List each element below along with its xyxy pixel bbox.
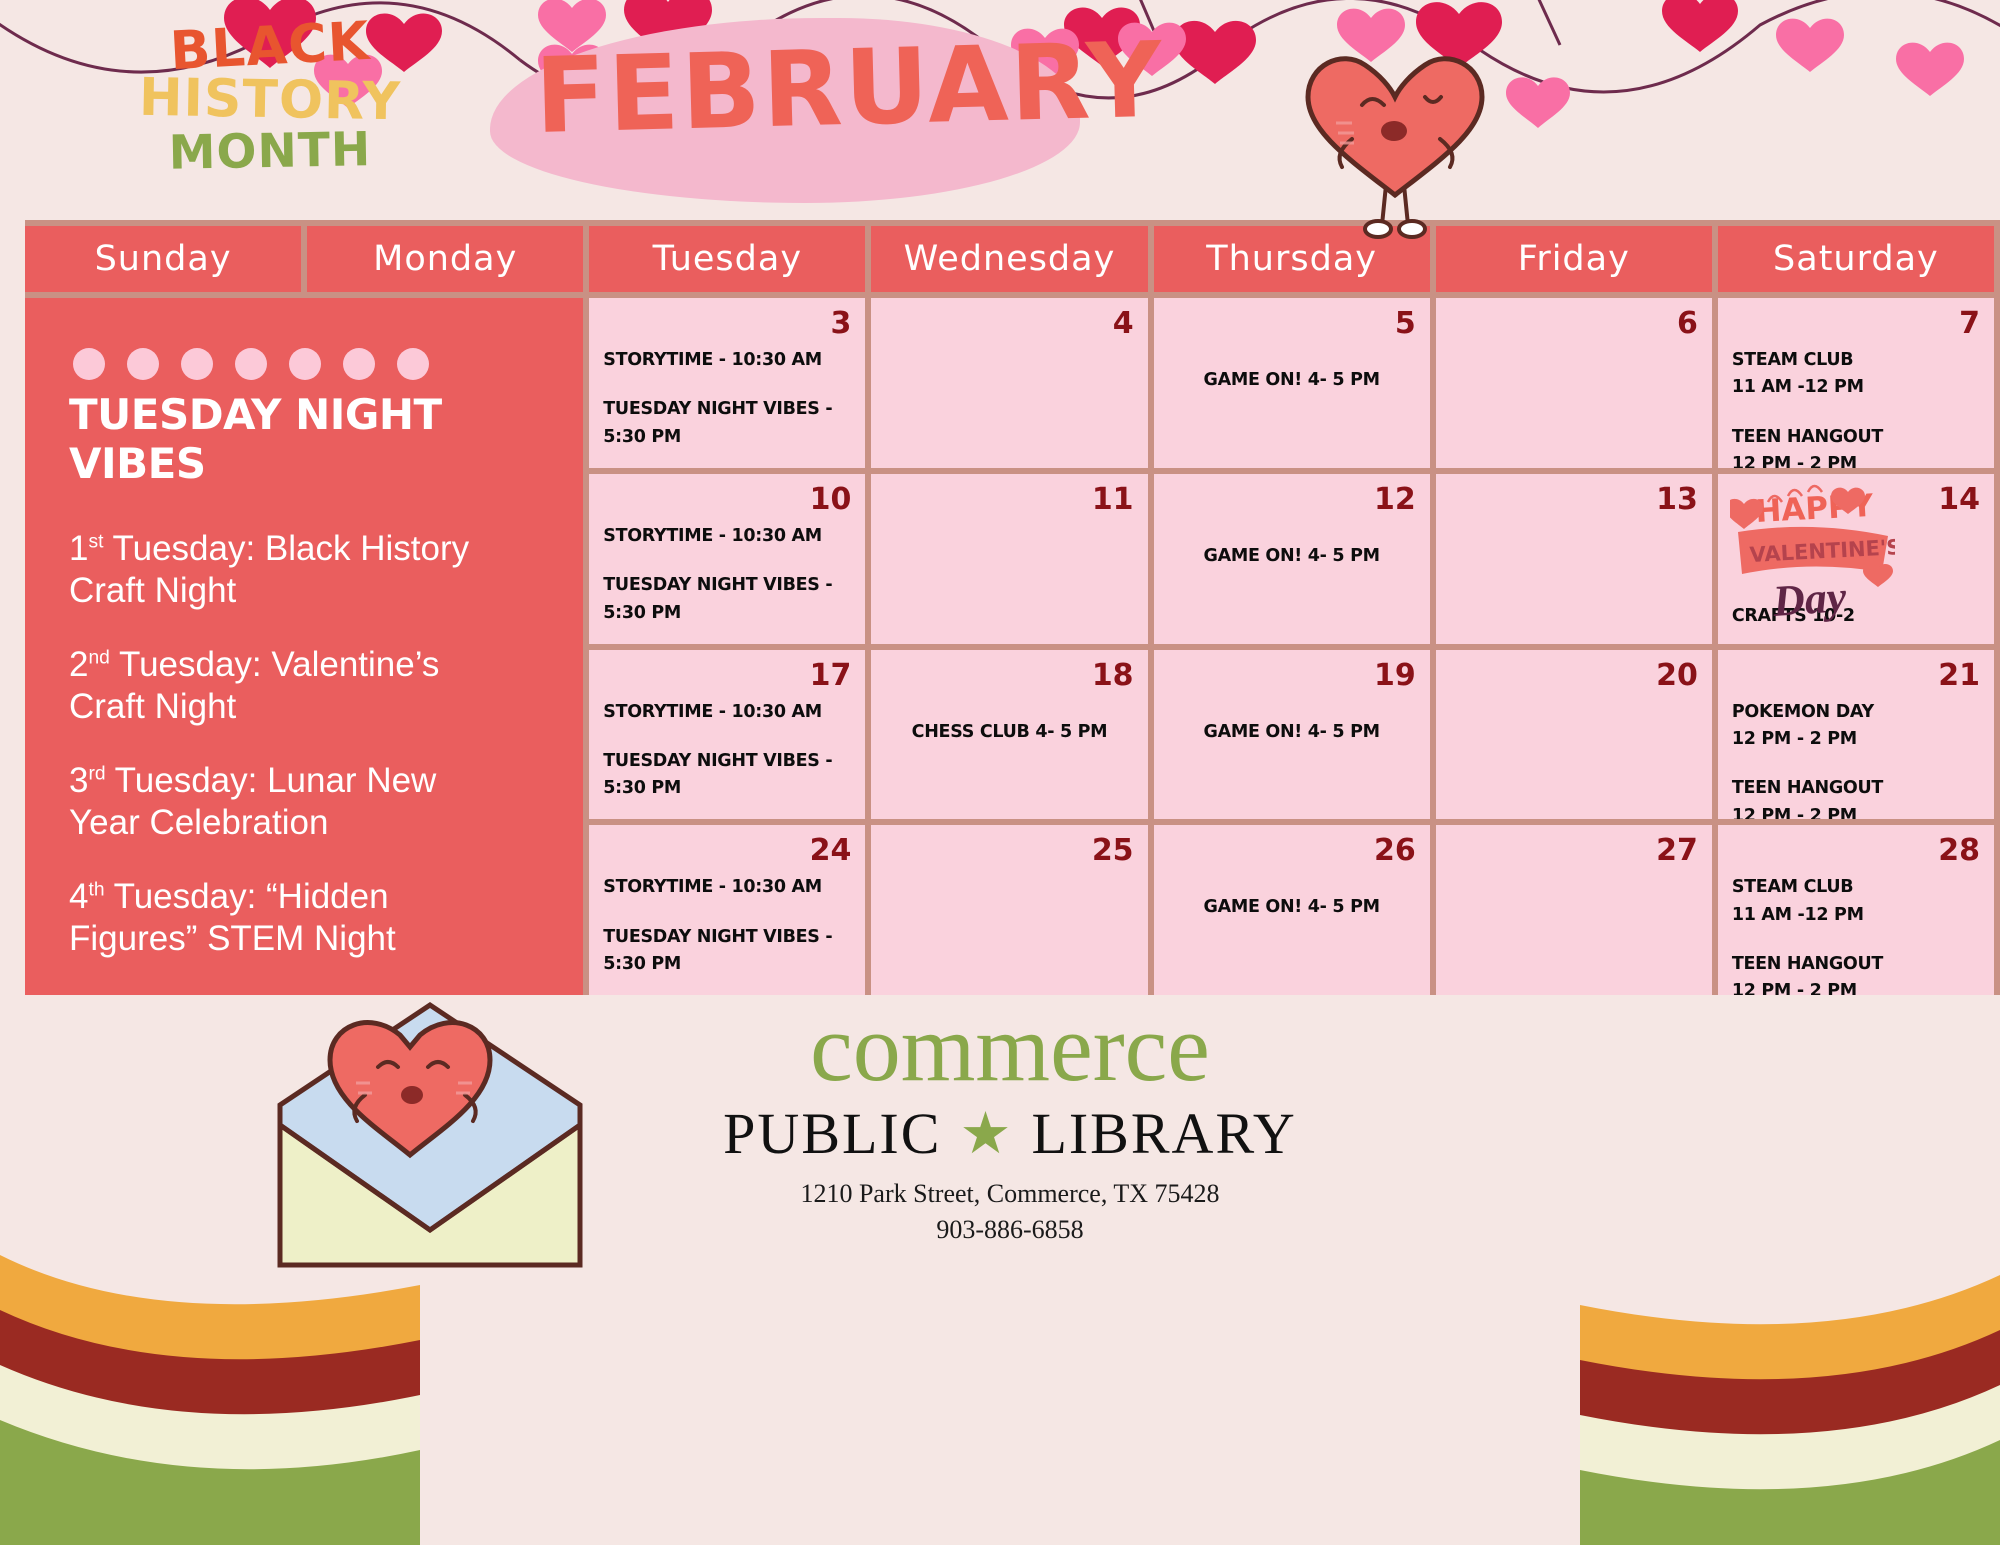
event-text: 5:30 PM [603,425,851,450]
bhm-line-3: MONTH [110,127,431,177]
dot-icon [127,348,159,380]
calendar-day-cell[interactable]: 25 [871,825,1147,995]
calendar-day-cell[interactable]: 11 [871,474,1147,644]
logo-public-library: PUBLIC ★ LIBRARY [700,1100,1320,1167]
day-number: 27 [1656,833,1698,868]
day-number: 6 [1677,306,1698,341]
day-events-list: STEAM CLUB11 AM -12 PMTEEN HANGOUT12 PM … [1732,875,1980,995]
day-number: 17 [810,658,852,693]
day-events-list: GAME ON! 4- 5 PM [1168,895,1416,922]
calendar-day-cell[interactable]: HAPPYVALENTINE'SDay14CRAFTS 10-2 [1718,474,1994,644]
event-text: 5:30 PM [603,776,851,801]
calendar-day-cell[interactable]: 24STORYTIME - 10:30 AMTUESDAY NIGHT VIBE… [589,825,865,995]
event-text: STORYTIME - 10:30 AM [603,700,851,725]
weekday-header-wednesday: Wednesday [871,226,1147,292]
kissing-heart-character-icon [1290,35,1500,240]
weekday-header-tuesday: Tuesday [589,226,865,292]
sidebar-item-text: Tuesday: “Hidden Figures” STEM Night [69,877,396,958]
calendar-day-cell[interactable]: 21POKEMON DAY12 PM - 2 PMTEEN HANGOUT12 … [1718,650,1994,820]
event-text: 11 AM -12 PM [1732,903,1980,928]
bhm-line-2: HISTORY [110,74,431,129]
calendar-day-cell[interactable]: 19GAME ON! 4- 5 PM [1154,650,1430,820]
day-number: 14 [1938,482,1980,517]
event-text: TEEN HANGOUT [1732,776,1980,801]
weekday-header-monday: Monday [307,226,583,292]
calendar-day-cell[interactable]: 17STORYTIME - 10:30 AMTUESDAY NIGHT VIBE… [589,650,865,820]
black-history-month-logo: BLACK HISTORY MONTH [110,22,430,174]
month-title: FEBRUARY [533,21,1076,157]
sidebar-item-3: 3rd Tuesday: Lunar New Year Celebration [69,760,489,844]
calendar-day-cell[interactable]: 7STEAM CLUB11 AM -12 PMTEEN HANGOUT12 PM… [1718,298,1994,468]
library-address: 1210 Park Street, Commerce, TX 75428 [700,1179,1320,1209]
sidebar-item-1: 1st Tuesday: Black History Craft Night [69,528,489,612]
calendar-day-cell[interactable]: 18CHESS CLUB 4- 5 PM [871,650,1147,820]
logo-public-word: PUBLIC [723,1100,941,1167]
day-number: 21 [1938,658,1980,693]
day-number: 26 [1374,833,1416,868]
day-number: 12 [1374,482,1416,517]
calendar-day-cell[interactable]: 4 [871,298,1147,468]
dot-icon [73,348,105,380]
calendar-day-cell[interactable]: 6 [1436,298,1712,468]
ordinal-number: 4 [69,877,88,916]
dot-icon [397,348,429,380]
event-text: 12 PM - 2 PM [1732,727,1980,752]
dot-icon [181,348,213,380]
calendar-day-cell[interactable]: 13 [1436,474,1712,644]
calendar-day-cell[interactable]: 3STORYTIME - 10:30 AMTUESDAY NIGHT VIBES… [589,298,865,468]
library-logo: commerce PUBLIC ★ LIBRARY 1210 Park Stre… [700,1000,1320,1245]
calendar-day-cell[interactable]: 10STORYTIME - 10:30 AMTUESDAY NIGHT VIBE… [589,474,865,644]
event-text: 11 AM -12 PM [1732,375,1980,400]
event-text: STEAM CLUB [1732,348,1980,373]
day-events-list: STEAM CLUB11 AM -12 PMTEEN HANGOUT12 PM … [1732,348,1980,468]
event-text: TEEN HANGOUT [1732,952,1980,977]
decorative-dots [73,348,555,380]
ordinal-suffix: rd [88,763,105,784]
event-text: 5:30 PM [603,952,851,977]
ordinal-suffix: st [88,531,103,552]
dot-icon [235,348,267,380]
weekday-header-saturday: Saturday [1718,226,1994,292]
event-text: TUESDAY NIGHT VIBES - [603,573,851,598]
bottom-right-wave-decoration [1580,1245,2000,1545]
sidebar-item-text: Tuesday: Lunar New Year Celebration [69,761,436,842]
event-text: STORYTIME - 10:30 AM [603,524,851,549]
tuesday-night-vibes-sidebar: TUESDAY NIGHT VIBES1st Tuesday: Black Hi… [25,298,583,995]
day-events-list: STORYTIME - 10:30 AMTUESDAY NIGHT VIBES … [603,348,851,452]
event-text: GAME ON! 4- 5 PM [1204,544,1380,569]
happy-valentines-day-graphic: HAPPYVALENTINE'SDay [1730,480,1895,640]
logo-commerce-word: commerce [700,1000,1320,1096]
event-text: TUESDAY NIGHT VIBES - [603,749,851,774]
event-text: GAME ON! 4- 5 PM [1204,895,1380,920]
day-number: 25 [1092,833,1134,868]
calendar-day-cell[interactable]: 27 [1436,825,1712,995]
event-text: GAME ON! 4- 5 PM [1204,368,1380,393]
ordinal-suffix: nd [88,647,109,668]
day-number: 24 [810,833,852,868]
day-number: 11 [1092,482,1134,517]
sidebar-item-text: Tuesday: Black History Craft Night [69,529,469,610]
calendar-day-cell[interactable]: 20 [1436,650,1712,820]
day-events-list: STORYTIME - 10:30 AMTUESDAY NIGHT VIBES … [603,700,851,804]
event-text: CHESS CLUB 4- 5 PM [912,720,1108,745]
event-text: GAME ON! 4- 5 PM [1204,720,1380,745]
svg-text:Day: Day [1770,572,1848,626]
sidebar-item-4: 4th Tuesday: “Hidden Figures” STEM Night [69,876,489,960]
sidebar-item-2: 2nd Tuesday: Valentine’s Craft Night [69,644,489,728]
event-text: TEEN HANGOUT [1732,425,1980,450]
calendar-day-cell[interactable]: 28STEAM CLUB11 AM -12 PMTEEN HANGOUT12 P… [1718,825,1994,995]
event-text: TUESDAY NIGHT VIBES - [603,397,851,422]
day-events-list: POKEMON DAY12 PM - 2 PMTEEN HANGOUT12 PM… [1732,700,1980,820]
dot-icon [289,348,321,380]
day-number: 7 [1959,306,1980,341]
day-events-list: GAME ON! 4- 5 PM [1168,368,1416,395]
day-number: 28 [1938,833,1980,868]
library-phone: 903-886-6858 [700,1215,1320,1245]
day-number: 4 [1113,306,1134,341]
day-events-list: STORYTIME - 10:30 AMTUESDAY NIGHT VIBES … [603,875,851,979]
day-number: 3 [831,306,852,341]
day-events-list: CHESS CLUB 4- 5 PM [885,720,1133,747]
ordinal-number: 3 [69,761,88,800]
ordinal-suffix: th [88,879,104,900]
day-events-list: GAME ON! 4- 5 PM [1168,720,1416,747]
sidebar-item-text: Tuesday: Valentine’s Craft Night [69,645,439,726]
event-text: 12 PM - 2 PM [1732,804,1980,820]
day-number: 20 [1656,658,1698,693]
day-number: 5 [1395,306,1416,341]
calendar-grid: SundayMondayTuesdayWednesdayThursdayFrid… [25,220,2000,995]
event-text: STEAM CLUB [1732,875,1980,900]
calendar-day-cell[interactable]: 5GAME ON! 4- 5 PM [1154,298,1430,468]
heart-in-envelope-illustration [260,975,600,1275]
event-text: 12 PM - 2 PM [1732,452,1980,468]
day-number: 18 [1092,658,1134,693]
event-text: 12 PM - 2 PM [1732,979,1980,995]
day-number: 10 [810,482,852,517]
event-text: STORYTIME - 10:30 AM [603,348,851,373]
day-events-list: STORYTIME - 10:30 AMTUESDAY NIGHT VIBES … [603,524,851,628]
star-icon: ★ [959,1105,1013,1163]
event-text: STORYTIME - 10:30 AM [603,875,851,900]
day-number: 19 [1374,658,1416,693]
event-text: POKEMON DAY [1732,700,1980,725]
weekday-header-sunday: Sunday [25,226,301,292]
dot-icon [343,348,375,380]
sidebar-title: TUESDAY NIGHT VIBES [69,390,555,488]
event-text: TUESDAY NIGHT VIBES - [603,925,851,950]
ordinal-number: 2 [69,645,88,684]
calendar-day-cell[interactable]: 12GAME ON! 4- 5 PM [1154,474,1430,644]
ordinal-number: 1 [69,529,88,568]
day-number: 13 [1656,482,1698,517]
day-events-list: GAME ON! 4- 5 PM [1168,544,1416,571]
logo-library-word: LIBRARY [1031,1100,1296,1167]
calendar-day-cell[interactable]: 26GAME ON! 4- 5 PM [1154,825,1430,995]
event-text: 5:30 PM [603,601,851,626]
